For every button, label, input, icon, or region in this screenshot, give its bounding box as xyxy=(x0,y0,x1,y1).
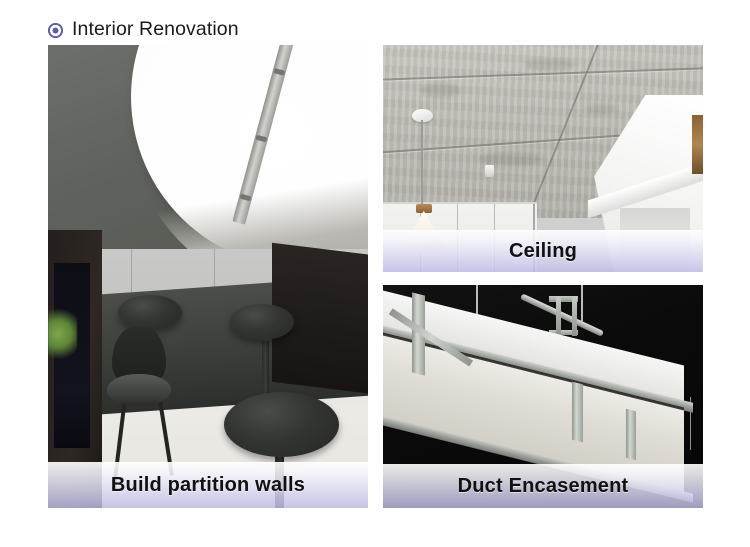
photo-caption: Build partition walls xyxy=(48,462,368,508)
wood-trim xyxy=(692,115,703,174)
photo-card-build-partition-walls[interactable]: Build partition walls xyxy=(48,45,368,508)
pipe-bracket-stem xyxy=(556,296,561,336)
photo-card-duct-encasement[interactable]: Duct Encasement xyxy=(383,285,703,508)
pendant-cord xyxy=(421,120,423,204)
hanger-rod xyxy=(581,285,583,321)
section-heading: Interior Renovation xyxy=(48,16,239,44)
chair-seat xyxy=(107,374,171,406)
round-table xyxy=(224,392,339,457)
photo-card-ceiling[interactable]: Ceiling xyxy=(383,45,703,272)
photo-caption: Ceiling xyxy=(383,230,703,272)
ceiling-spotlight xyxy=(485,165,493,176)
plant-foliage xyxy=(48,309,77,365)
radio-bullet-icon xyxy=(48,23,63,38)
steel-stud xyxy=(626,409,636,460)
page-title: Interior Renovation xyxy=(72,20,239,40)
steel-stud xyxy=(572,382,583,443)
photo-caption: Duct Encasement xyxy=(383,464,703,508)
pipe-bracket-stem xyxy=(572,296,577,336)
photo-image-build-partition-walls xyxy=(48,45,368,508)
